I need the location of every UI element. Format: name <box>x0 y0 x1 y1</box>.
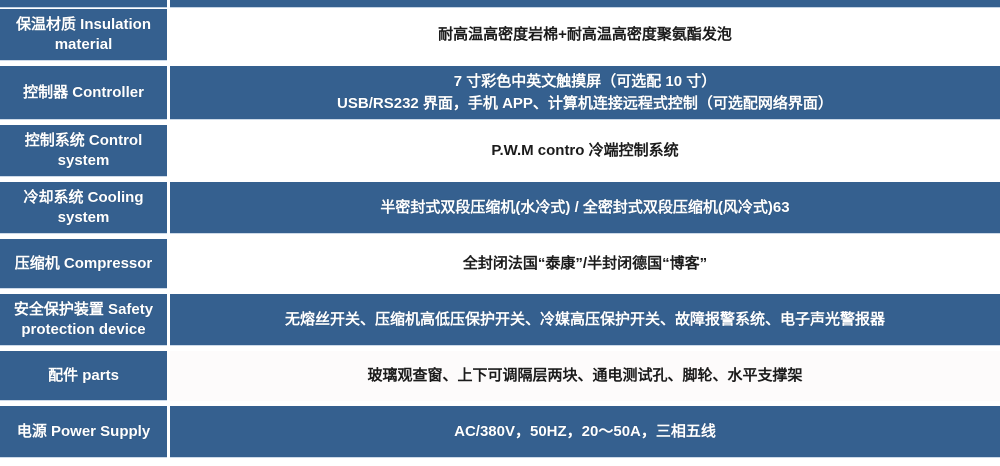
clipped-top-row <box>0 0 1000 7</box>
row-label-cell: 压缩机 Compressor <box>0 239 167 289</box>
clipped-top-row-value-cell <box>170 0 1000 8</box>
table-row: 安全保护装置 Safety protection device无熔丝开关、压缩机… <box>0 294 1000 346</box>
row-value-cell: 玻璃观查窗、上下可调隔层两块、通电测试孔、脚轮、水平支撑架 <box>170 351 1000 401</box>
table-row: 控制系统 Control systemP.W.M contro 冷端控制系统 <box>0 125 1000 177</box>
row-value-text: 半密封式双段压缩机(水冷式) / 全密封式双段压缩机(风冷式)63 <box>380 197 789 219</box>
table-row: 压缩机 Compressor全封闭法国“泰康”/半封闭德国“博客” <box>0 239 1000 289</box>
table-row: 冷却系统 Cooling system半密封式双段压缩机(水冷式) / 全密封式… <box>0 182 1000 234</box>
clipped-top-row-label-cell <box>0 0 167 8</box>
row-value-cell: 半密封式双段压缩机(水冷式) / 全密封式双段压缩机(风冷式)63 <box>170 182 1000 234</box>
row-value-text: 全封闭法国“泰康”/半封闭德国“博客” <box>463 253 707 275</box>
row-value-cell: P.W.M contro 冷端控制系统 <box>170 125 1000 177</box>
row-value-text: 玻璃观查窗、上下可调隔层两块、通电测试孔、脚轮、水平支撑架 <box>367 365 802 387</box>
table-row: 电源 Power SupplyAC/380V，50HZ，20～50A，三相五线 <box>0 406 1000 458</box>
row-value-cell: 耐高温高密度岩棉+耐高温高密度聚氨酯发泡 <box>170 9 1000 61</box>
specification-table: 保温材质 Insulation material耐高温高密度岩棉+耐高温高密度聚… <box>0 0 1000 466</box>
row-value-text: P.W.M contro 冷端控制系统 <box>491 140 678 162</box>
row-label-cell: 配件 parts <box>0 351 167 401</box>
row-value-cell: AC/380V，50HZ，20～50A，三相五线 <box>170 406 1000 458</box>
table-row: 保温材质 Insulation material耐高温高密度岩棉+耐高温高密度聚… <box>0 9 1000 61</box>
table-body: 保温材质 Insulation material耐高温高密度岩棉+耐高温高密度聚… <box>0 9 1000 463</box>
table-row: 配件 parts玻璃观查窗、上下可调隔层两块、通电测试孔、脚轮、水平支撑架 <box>0 351 1000 401</box>
row-label-cell: 安全保护装置 Safety protection device <box>0 294 167 346</box>
row-value-text: AC/380V，50HZ，20～50A，三相五线 <box>454 421 716 443</box>
row-label-cell: 控制器 Controller <box>0 66 167 120</box>
table-row: 控制器 Controller7 寸彩色中英文触摸屏（可选配 10 寸） USB/… <box>0 66 1000 120</box>
row-value-cell: 无熔丝开关、压缩机高低压保护开关、冷媒高压保护开关、故障报警系统、电子声光警报器 <box>170 294 1000 346</box>
row-label-cell: 电源 Power Supply <box>0 406 167 458</box>
row-value-cell: 全封闭法国“泰康”/半封闭德国“博客” <box>170 239 1000 289</box>
row-value-text: 7 寸彩色中英文触摸屏（可选配 10 寸） USB/RS232 界面，手机 AP… <box>337 71 833 115</box>
row-label-cell: 冷却系统 Cooling system <box>0 182 167 234</box>
row-value-cell: 7 寸彩色中英文触摸屏（可选配 10 寸） USB/RS232 界面，手机 AP… <box>170 66 1000 120</box>
row-label-cell: 保温材质 Insulation material <box>0 9 167 61</box>
row-label-cell: 控制系统 Control system <box>0 125 167 177</box>
row-value-text: 耐高温高密度岩棉+耐高温高密度聚氨酯发泡 <box>438 24 732 46</box>
row-value-text: 无熔丝开关、压缩机高低压保护开关、冷媒高压保护开关、故障报警系统、电子声光警报器 <box>285 309 885 331</box>
